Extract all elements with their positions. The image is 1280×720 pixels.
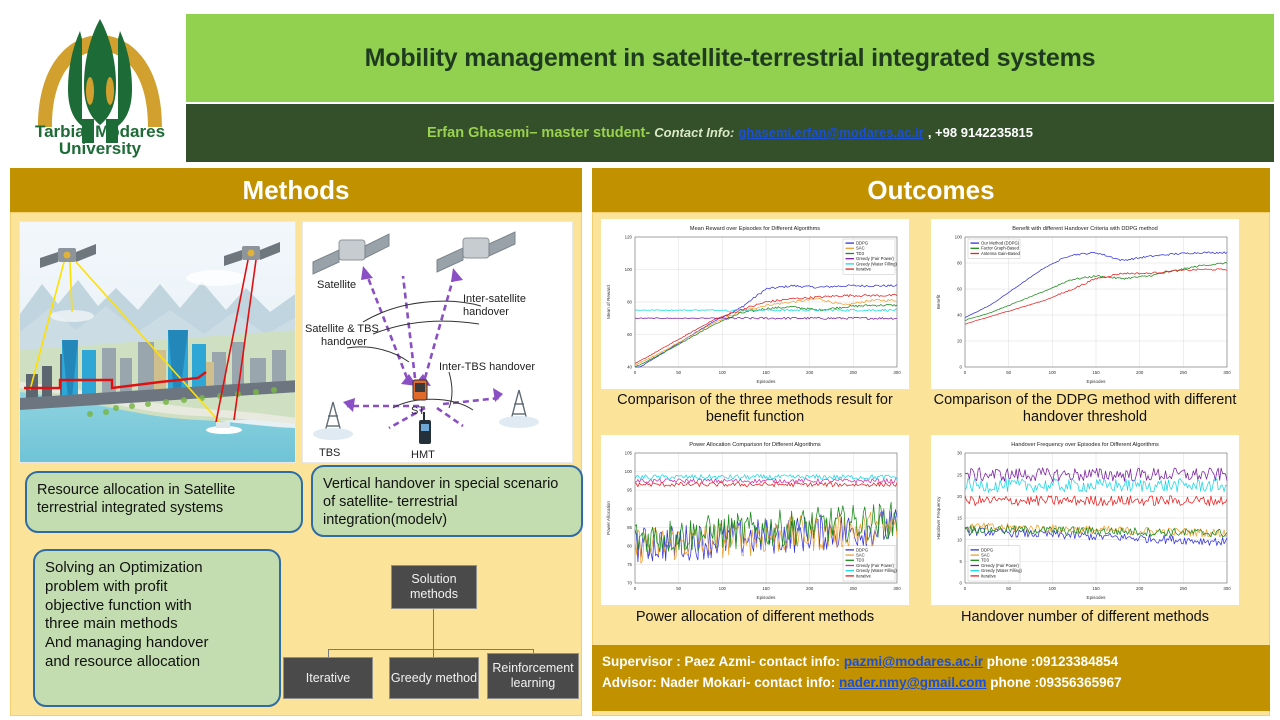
svg-text:300: 300 bbox=[1223, 370, 1231, 375]
flow-node-reinforcement-learning: Reinforcement learning bbox=[487, 653, 579, 699]
opt-line-5: And managing handover bbox=[45, 634, 269, 653]
svg-text:50: 50 bbox=[676, 586, 681, 591]
svg-text:Mean Reward over Episodes for: Mean Reward over Episodes for Different … bbox=[690, 226, 820, 232]
svg-text:150: 150 bbox=[1092, 370, 1100, 375]
supervisor-row: Supervisor : Paez Azmi- contact info: pa… bbox=[602, 652, 1260, 673]
flow-node-solution-methods: Solution methods bbox=[391, 565, 477, 609]
methods-box-resource-allocation: Resource allocation in Satellite terrest… bbox=[25, 471, 303, 533]
svg-text:150: 150 bbox=[762, 586, 770, 591]
chart-caption-2: Power allocation of different methods bbox=[601, 605, 909, 628]
svg-text:105: 105 bbox=[625, 450, 633, 455]
methods-column: Methods bbox=[10, 168, 582, 716]
svg-text:70: 70 bbox=[627, 580, 632, 585]
svg-text:Iterative: Iterative bbox=[856, 573, 872, 578]
svg-text:Power Allocation: Power Allocation bbox=[606, 500, 611, 534]
svg-text:20: 20 bbox=[957, 339, 962, 344]
svg-text:60: 60 bbox=[957, 287, 962, 292]
contact-footer: Supervisor : Paez Azmi- contact info: pa… bbox=[592, 645, 1270, 711]
methods-body: Satellite Inter-satellite handover Satel… bbox=[10, 212, 582, 716]
svg-text:handover: handover bbox=[463, 306, 509, 318]
solution-methods-flowchart: Solution methods Iterative Greedy method… bbox=[281, 547, 581, 707]
outcomes-heading: Outcomes bbox=[867, 175, 994, 206]
chart-mean-reward: Mean Reward over Episodes for Different … bbox=[601, 219, 909, 389]
network-handover-diagram: Satellite Inter-satellite handover Satel… bbox=[302, 221, 573, 463]
advisor-label: Advisor: Nader Mokari- contact info: bbox=[602, 675, 835, 690]
supervisor-email-link[interactable]: pazmi@modares.ac.ir bbox=[844, 654, 983, 669]
svg-text:100: 100 bbox=[1049, 370, 1057, 375]
svg-text:Satellite & TBS: Satellite & TBS bbox=[305, 323, 379, 335]
label-satellite: Satellite bbox=[317, 279, 356, 291]
svg-text:Mean of Reward: Mean of Reward bbox=[606, 285, 611, 319]
advisor-row: Advisor: Nader Mokari- contact info: nad… bbox=[602, 673, 1260, 694]
flow-node-greedy-method: Greedy method bbox=[389, 657, 479, 699]
logo-icon: Tarbiat Modares University bbox=[20, 9, 180, 159]
svg-text:300: 300 bbox=[1223, 586, 1231, 591]
chart-mean-reward-svg: Mean Reward over Episodes for Different … bbox=[601, 219, 909, 389]
outcomes-body: Mean Reward over Episodes for Different … bbox=[592, 212, 1270, 716]
author-bar: Erfan Ghasemi– master student- Contact I… bbox=[186, 104, 1274, 162]
advisor-phone: phone :09356365967 bbox=[990, 675, 1121, 690]
svg-text:50: 50 bbox=[1006, 370, 1011, 375]
svg-text:200: 200 bbox=[806, 586, 814, 591]
outcomes-section-header: Outcomes bbox=[592, 168, 1270, 212]
chart-benefit-handover-criteria: Benefit with different Handover Criteria… bbox=[931, 219, 1239, 389]
svg-text:Power Allocation Comparison fo: Power Allocation Comparison for Differen… bbox=[689, 442, 821, 448]
chart-caption-0: Comparison of the three methods result f… bbox=[601, 389, 909, 429]
methods-heading: Methods bbox=[243, 175, 350, 206]
chart-handover-frequency: Handover Frequency over Episodes for Dif… bbox=[931, 435, 1239, 605]
svg-text:80: 80 bbox=[627, 543, 632, 548]
svg-text:85: 85 bbox=[627, 525, 632, 530]
svg-text:20: 20 bbox=[957, 494, 962, 499]
opt-line-6: and resource allocation bbox=[45, 653, 269, 672]
svg-text:60: 60 bbox=[627, 332, 632, 337]
flow-connector-horizontal bbox=[328, 649, 534, 650]
label-tbs: TBS bbox=[319, 447, 340, 459]
svg-text:Benefit with different Handove: Benefit with different Handover Criteria… bbox=[1012, 226, 1157, 232]
flow-connector-vertical bbox=[433, 609, 434, 649]
chart-caption-1: Comparison of the DDPG method with diffe… bbox=[931, 389, 1239, 429]
svg-text:100: 100 bbox=[1049, 586, 1057, 591]
svg-text:75: 75 bbox=[627, 562, 632, 567]
svg-text:200: 200 bbox=[1136, 370, 1144, 375]
svg-text:30: 30 bbox=[957, 450, 962, 455]
author-name: Erfan Ghasemi– master student- bbox=[427, 125, 650, 141]
svg-text:250: 250 bbox=[850, 370, 858, 375]
author-phone: , +98 9142235815 bbox=[928, 125, 1033, 140]
svg-text:200: 200 bbox=[806, 370, 814, 375]
svg-text:Benefit: Benefit bbox=[936, 294, 941, 309]
svg-text:150: 150 bbox=[1092, 586, 1100, 591]
svg-text:Handover Frequency: Handover Frequency bbox=[936, 496, 941, 540]
svg-text:100: 100 bbox=[719, 370, 727, 375]
methods-image-row: Satellite Inter-satellite handover Satel… bbox=[19, 221, 573, 463]
label-hmt: HMT bbox=[411, 449, 435, 461]
opt-line-2: problem with profit bbox=[45, 578, 269, 597]
outcomes-column: Outcomes Mean Reward over Episodes for D… bbox=[592, 168, 1270, 716]
svg-text:40: 40 bbox=[627, 365, 632, 370]
supervisor-phone: phone :09123384854 bbox=[987, 654, 1118, 669]
svg-text:100: 100 bbox=[719, 586, 727, 591]
university-logo: Tarbiat Modares University bbox=[14, 6, 186, 162]
svg-text:Inter-satellite: Inter-satellite bbox=[463, 293, 526, 305]
svg-text:300: 300 bbox=[893, 370, 901, 375]
svg-text:Episodes: Episodes bbox=[1087, 379, 1107, 384]
author-email-link[interactable]: ghasemi.erfan@modares.ac.ir bbox=[738, 125, 923, 140]
logo-line-2: University bbox=[59, 139, 142, 158]
poster-title-bar: Mobility management in satellite-terrest… bbox=[186, 14, 1274, 102]
chart-cell-1: Benefit with different Handover Criteria… bbox=[931, 219, 1239, 429]
svg-text:150: 150 bbox=[762, 370, 770, 375]
svg-text:25: 25 bbox=[957, 472, 962, 477]
chart-caption-3: Handover number of different methods bbox=[931, 605, 1239, 628]
svg-text:Iterative: Iterative bbox=[856, 267, 872, 272]
opt-line-3: objective function with bbox=[45, 597, 269, 616]
advisor-email-link[interactable]: nader.nmy@gmail.com bbox=[839, 675, 986, 690]
svg-text:250: 250 bbox=[1180, 586, 1188, 591]
chart-handover-svg: Handover Frequency over Episodes for Dif… bbox=[931, 435, 1239, 605]
chart-cell-2: Power Allocation Comparison for Differen… bbox=[601, 435, 909, 628]
svg-text:200: 200 bbox=[1136, 586, 1144, 591]
svg-text:300: 300 bbox=[893, 586, 901, 591]
svg-text:250: 250 bbox=[1180, 370, 1188, 375]
svg-text:Episodes: Episodes bbox=[1087, 595, 1107, 600]
svg-text:handover: handover bbox=[321, 336, 367, 348]
svg-text:Handover Frequency over Episod: Handover Frequency over Episodes for Dif… bbox=[1011, 442, 1159, 448]
svg-text:80: 80 bbox=[957, 261, 962, 266]
svg-text:Episodes: Episodes bbox=[757, 595, 777, 600]
methods-box-vertical-handover: Vertical handover in special scenario of… bbox=[311, 465, 583, 537]
satellite-city-image bbox=[19, 221, 296, 463]
mobile-st-icon bbox=[413, 380, 427, 400]
supervisor-label: Supervisor : Paez Azmi- contact info: bbox=[602, 654, 840, 669]
svg-text:100: 100 bbox=[955, 235, 963, 240]
svg-text:100: 100 bbox=[625, 469, 633, 474]
contact-info-label: Contact Info: bbox=[654, 125, 734, 140]
poster-root: Tarbiat Modares University Mobility mana… bbox=[0, 0, 1280, 720]
svg-text:15: 15 bbox=[957, 515, 962, 520]
opt-line-4: three main methods bbox=[45, 615, 269, 634]
svg-text:95: 95 bbox=[627, 488, 632, 493]
poster-header: Tarbiat Modares University Mobility mana… bbox=[0, 0, 1280, 164]
methods-section-header: Methods bbox=[10, 168, 582, 212]
svg-text:100: 100 bbox=[625, 267, 633, 272]
svg-text:120: 120 bbox=[625, 235, 633, 240]
svg-text:50: 50 bbox=[676, 370, 681, 375]
page-title: Mobility management in satellite-terrest… bbox=[365, 44, 1096, 73]
svg-text:80: 80 bbox=[627, 300, 632, 305]
chart-cell-0: Mean Reward over Episodes for Different … bbox=[601, 219, 909, 429]
svg-text:Inter-TBS handover: Inter-TBS handover bbox=[439, 361, 535, 373]
svg-text:250: 250 bbox=[850, 586, 858, 591]
svg-text:90: 90 bbox=[627, 506, 632, 511]
opt-line-1: Solving an Optimization bbox=[45, 559, 269, 578]
flow-node-iterative: Iterative bbox=[283, 657, 373, 699]
chart-benefit-svg: Benefit with different Handover Criteria… bbox=[931, 219, 1239, 389]
svg-text:40: 40 bbox=[957, 313, 962, 318]
svg-text:50: 50 bbox=[1006, 586, 1011, 591]
svg-text:Antenna Gain-Based: Antenna Gain-Based bbox=[981, 251, 1021, 256]
svg-text:Episodes: Episodes bbox=[757, 379, 777, 384]
chart-cell-3: Handover Frequency over Episodes for Dif… bbox=[931, 435, 1239, 628]
methods-box-optimization: Solving an Optimization problem with pro… bbox=[33, 549, 281, 707]
chart-power-allocation: Power Allocation Comparison for Differen… bbox=[601, 435, 909, 605]
author-line: Erfan Ghasemi– master student- Contact I… bbox=[427, 125, 1033, 141]
charts-grid: Mean Reward over Episodes for Different … bbox=[601, 219, 1261, 628]
svg-text:10: 10 bbox=[957, 537, 962, 542]
chart-power-svg: Power Allocation Comparison for Differen… bbox=[601, 435, 909, 605]
svg-text:Iterative: Iterative bbox=[981, 573, 997, 578]
